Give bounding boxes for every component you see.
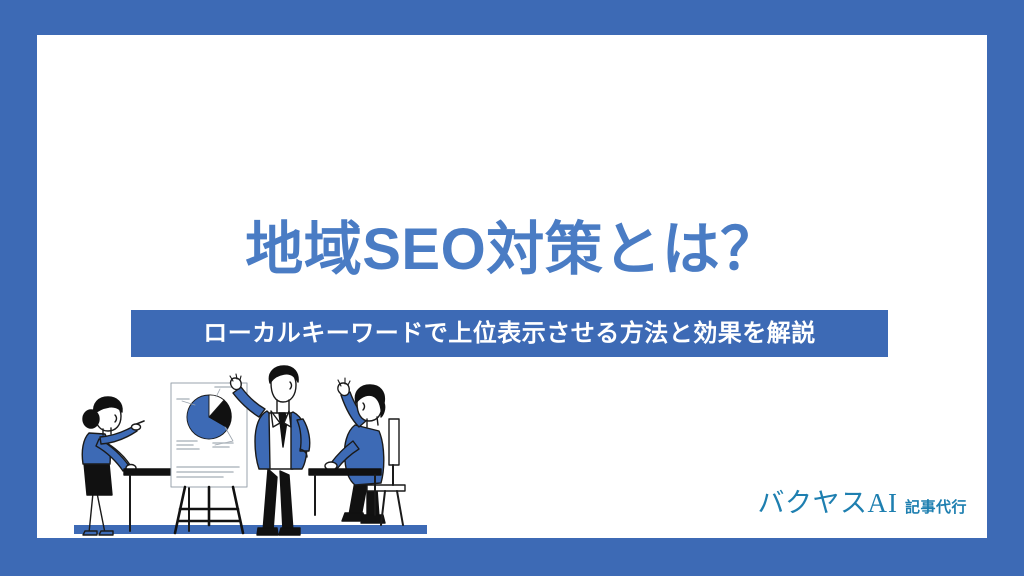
flipchart-with-pie-chart — [171, 383, 247, 533]
pie-chart — [187, 395, 231, 439]
subtitle-text: ローカルキーワードで上位表示させる方法と効果を解説 — [203, 320, 816, 348]
business-team-illustration — [37, 365, 437, 538]
subtitle-band: ローカルキーワードで上位表示させる方法と効果を解説 — [131, 310, 888, 357]
brand-logo: バクヤスAI 記事代行 — [752, 488, 967, 522]
page-title: 地域SEO対策とは？ — [37, 218, 987, 282]
figure-woman-pointing — [82, 397, 144, 535]
floor-strip — [74, 525, 427, 534]
brand-logo-ai: AI — [867, 488, 898, 518]
figure-seated-raising-hand — [325, 378, 405, 525]
brand-logo-sub: 記事代行 — [905, 499, 967, 517]
slide-root: 地域SEO対策とは？ ローカルキーワードで上位表示させる方法と効果を解説 バクヤ… — [0, 0, 1024, 576]
hair-bun — [83, 410, 99, 428]
brand-logo-main: バクヤス — [757, 488, 867, 518]
slide-canvas: 地域SEO対策とは？ ローカルキーワードで上位表示させる方法と効果を解説 バクヤ… — [37, 35, 987, 538]
